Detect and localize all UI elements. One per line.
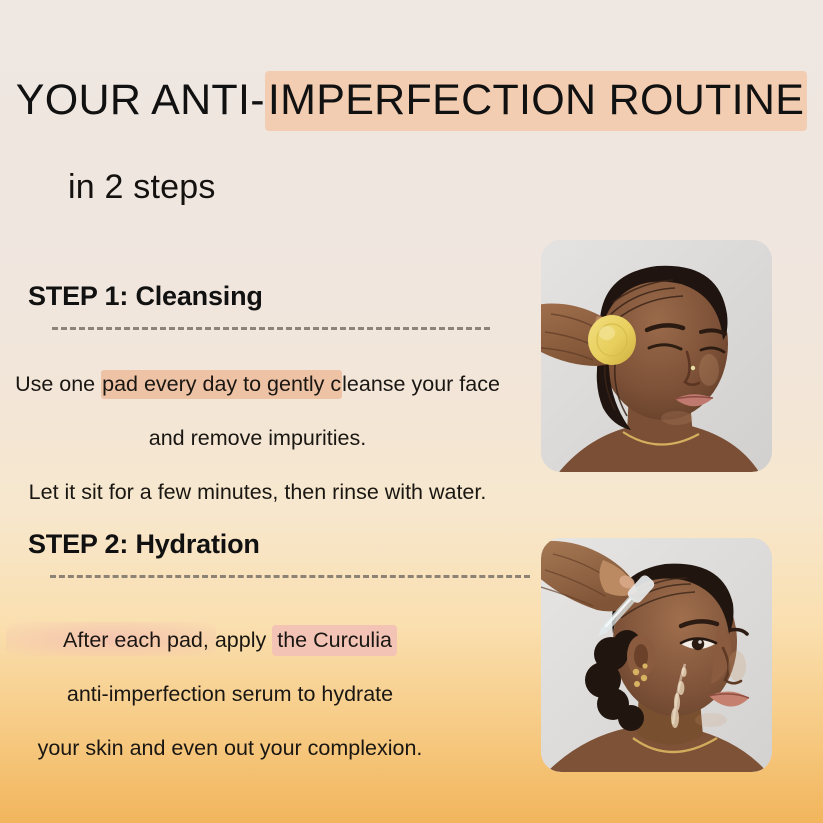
- step-2-body-line-3: your skin and even out your complexion.: [0, 735, 460, 762]
- step-2-body: After each pad, apply the Curculia anti-…: [0, 600, 460, 789]
- step-1-heading: STEP 1: Cleansing: [28, 281, 263, 312]
- title-plain-part: YOUR ANTI-: [16, 76, 265, 124]
- step-1-line1-highlight: pad every day to gently c: [101, 370, 342, 399]
- step-1-photo: [541, 240, 772, 472]
- step-2-body-line-1: After each pad, apply the Curculia: [0, 627, 460, 654]
- step-1-divider: [52, 327, 490, 330]
- step-1-body-line-1: Use one pad every day to gently cleanse …: [0, 371, 515, 398]
- title-highlighted-part: IMPERFECTION ROUTINE: [265, 71, 807, 131]
- step-1-body-line-2: and remove impurities.: [0, 425, 515, 452]
- step-2-body-line-2: anti-imperfection serum to hydrate: [0, 681, 460, 708]
- step-2-photo: [541, 538, 772, 772]
- step-2-line1-highlight: the Curculia: [272, 625, 397, 656]
- cleansing-pad-photo: [541, 240, 772, 472]
- step-1-line1-post: leanse your face: [342, 372, 500, 396]
- serum-dropper-photo: [541, 538, 772, 772]
- step-1-body-line-3: Let it sit for a few minutes, then rinse…: [0, 479, 515, 506]
- step-1-body: Use one pad every day to gently cleanse …: [0, 344, 515, 533]
- step-1-line1-pre: Use one: [15, 372, 101, 396]
- poster-canvas: YOUR ANTI-IMPERFECTION ROUTINE in 2 step…: [0, 0, 823, 823]
- page-subtitle: in 2 steps: [68, 168, 216, 207]
- step-2-line1-pre: After each pad, apply: [63, 628, 272, 652]
- step-2-heading: STEP 2: Hydration: [28, 529, 260, 560]
- page-title: YOUR ANTI-IMPERFECTION ROUTINE: [0, 76, 823, 125]
- step-2-divider: [50, 575, 530, 578]
